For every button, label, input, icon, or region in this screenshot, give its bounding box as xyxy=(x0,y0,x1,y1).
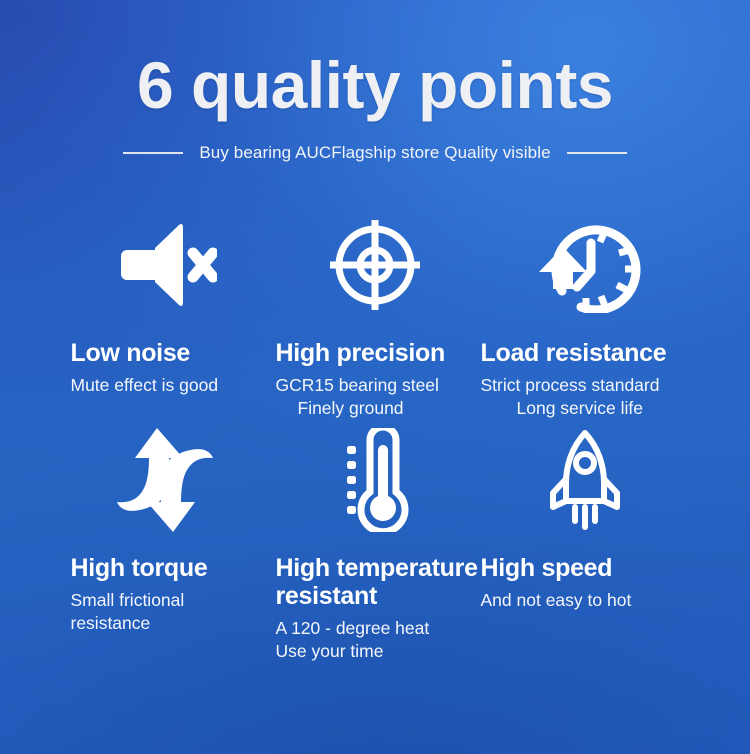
feature-description: Strict process standard Long service lif… xyxy=(479,374,692,420)
quality-points-poster: 6 quality points Buy bearing AUCFlagship… xyxy=(0,0,750,754)
feature-description: GCR15 bearing steel Finely ground xyxy=(272,374,479,420)
thermometer-icon xyxy=(272,420,479,540)
poster-header: 6 quality points Buy bearing AUCFlagship… xyxy=(0,0,750,163)
feature-line: A 120 - degree heat xyxy=(276,617,479,640)
feature-description: Small frictional resistance xyxy=(59,589,272,635)
target-crosshair-icon xyxy=(272,205,479,325)
feature-line: Use your time xyxy=(276,640,479,663)
feature-line: And not easy to hot xyxy=(481,589,692,612)
feature-item-load-resistance: Load resistance Strict process standard … xyxy=(479,205,692,420)
feature-description: Mute effect is good xyxy=(59,374,272,397)
feature-heading: Low noise xyxy=(59,339,272,367)
feature-line: Small frictional xyxy=(71,589,272,612)
rocket-icon xyxy=(479,420,692,540)
feature-description: A 120 - degree heat Use your time xyxy=(272,617,479,663)
feature-heading: High speed xyxy=(479,554,692,582)
feature-heading: High precision xyxy=(272,339,479,367)
feature-line: Long service life xyxy=(481,397,692,420)
clock-arrow-icon xyxy=(479,205,692,325)
feature-item-high-temperature: High temperature resistant A 120 - degre… xyxy=(272,420,479,663)
feature-heading: High temperature resistant xyxy=(272,554,479,610)
feature-heading: High torque xyxy=(59,554,272,582)
page-subtitle: Buy bearing AUCFlagship store Quality vi… xyxy=(199,143,550,163)
feature-item-high-precision: High precision GCR15 bearing steel Finel… xyxy=(272,205,479,420)
rotation-arrows-icon xyxy=(59,420,272,540)
feature-heading: Load resistance xyxy=(479,339,692,367)
feature-line: Mute effect is good xyxy=(71,374,272,397)
feature-item-high-torque: High torque Small frictional resistance xyxy=(59,420,272,663)
feature-description: And not easy to hot xyxy=(479,589,692,612)
feature-line: Strict process standard xyxy=(481,374,692,397)
feature-line: GCR15 bearing steel xyxy=(276,374,479,397)
feature-grid: Low noise Mute effect is good High preci… xyxy=(0,205,750,663)
feature-line: resistance xyxy=(71,612,272,635)
subtitle-row: Buy bearing AUCFlagship store Quality vi… xyxy=(0,143,750,163)
rule-left-icon xyxy=(123,152,183,154)
feature-item-high-speed: High speed And not easy to hot xyxy=(479,420,692,663)
feature-item-low-noise: Low noise Mute effect is good xyxy=(59,205,272,420)
rule-right-icon xyxy=(567,152,627,154)
page-title: 6 quality points xyxy=(0,0,750,118)
feature-line: Finely ground xyxy=(276,397,479,420)
mute-speaker-icon xyxy=(59,205,272,325)
